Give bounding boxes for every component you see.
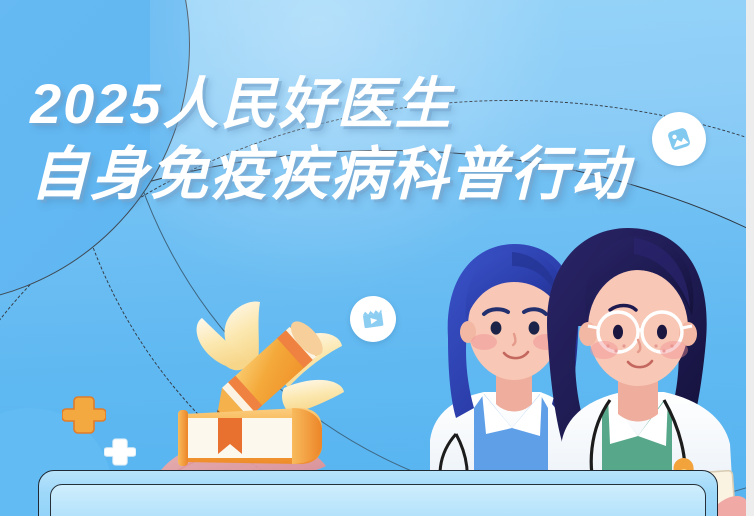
banner-title-line-2: 自身免疫疾病科普行动 (30, 146, 630, 204)
plus-cross-white-icon (104, 436, 136, 473)
banner-title-block: 2025人民好医生 自身免疫疾病科普行动 (30, 76, 630, 204)
campaign-banner: 2025人民好医生 自身免疫疾病科普行动 (0, 0, 754, 516)
winged-pencil-and-book-illustration (150, 296, 370, 496)
right-margin-strip (746, 0, 754, 516)
banner-title-line-1: 2025人民好医生 (30, 76, 630, 132)
banner-artwork: 2025人民好医生 自身免疫疾病科普行动 (0, 0, 746, 516)
book-shape (178, 408, 322, 466)
photo-icon-glyph (660, 120, 698, 158)
reception-counter-top (50, 484, 706, 516)
video-icon-glyph (358, 304, 387, 333)
plus-cross-orange-icon (62, 393, 106, 442)
